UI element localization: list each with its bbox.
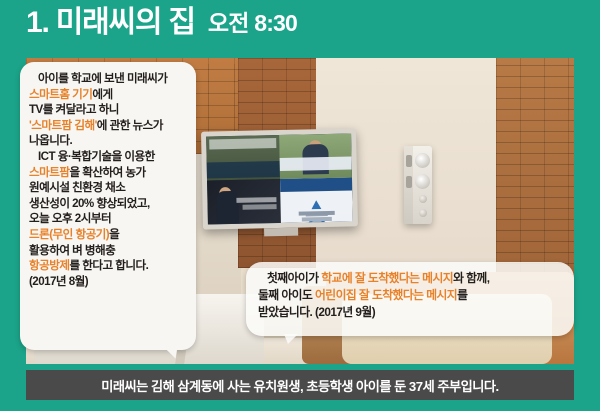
tv-quadrant-news-field (206, 135, 279, 181)
speaker-driver-panel (413, 146, 432, 224)
bubble-line: 활용하여 벼 병해충 (29, 243, 187, 259)
wall-speaker (404, 146, 432, 224)
left-bubble-text: 아이를 학교에 보낸 미래씨가스마트홈 기기에게TV를 켜달라고 하니'스마트팜… (29, 71, 187, 289)
tv-quadrant-school-notice (280, 177, 353, 223)
highlight-term: 드론(무인 항공기) (29, 228, 109, 241)
right-speech-bubble: 첫째아이가 학교에 잘 도착했다는 메시지와 함께,둘째 아이도 어린이집 잘 … (246, 262, 574, 336)
bubble-line: ICT 융·복합기술을 이용한 (29, 149, 187, 165)
bubble-line: 원예시설 친환경 채소 (29, 180, 187, 196)
body-text: 에 관한 뉴스가 (97, 119, 163, 132)
tv-quadrant-interview-studio (207, 179, 280, 225)
body-text: 원예시설 친환경 채소 (29, 181, 125, 194)
speaker-side-panel (404, 146, 413, 224)
bubble-line: 첫째아이가 학교에 잘 도착했다는 메시지와 함께, (258, 270, 562, 287)
body-text: (2017년 8월) (29, 275, 88, 288)
highlight-term: 학교에 잘 도착했다는 메시지 (321, 271, 453, 285)
body-text: 을 확산하여 농가 (69, 166, 145, 179)
bubble-line: 아이를 학교에 보낸 미래씨가 (29, 71, 187, 87)
header-bar: 1. 미래씨의 집 오전 8:30 (0, 0, 600, 58)
body-text: 를 한다고 합니다. (69, 259, 148, 272)
highlight-term: '스마트팜 김해' (29, 119, 97, 132)
bottom-caption-bar: 미래씨는 김해 삼계동에 사는 유치원생, 초등학생 아이를 둔 37세 주부입… (26, 370, 574, 400)
header-time: 오전 8:30 (208, 8, 297, 40)
body-text: 을 (109, 228, 119, 241)
bubble-line: 항공방제를 한다고 합니다. (29, 258, 187, 274)
body-text: 에게 (92, 88, 112, 101)
bubble-line: 스마트팜을 확산하여 농가 (29, 165, 187, 181)
header-inner: 1. 미래씨의 집 오전 8:30 (26, 6, 297, 40)
highlight-term: 항공방제 (29, 259, 69, 272)
body-text: 둘째 아이도 (258, 288, 315, 302)
highlight-term: 스마트팜 (29, 166, 69, 179)
bubble-line: 받았습니다. (2017년 9월) (258, 304, 562, 321)
left-speech-bubble: 아이를 학교에 보낸 미래씨가스마트홈 기기에게TV를 켜달라고 하니'스마트팜… (20, 62, 196, 350)
bubble-line: 나옵니다. (29, 133, 187, 149)
bubble-line: TV를 켜달라고 하니 (29, 102, 187, 118)
body-text: 첫째아이가 (267, 271, 321, 285)
body-text: 아이를 학교에 보낸 미래씨가 (38, 72, 167, 85)
highlight-term: 스마트홈 기기 (29, 88, 92, 101)
body-text: 나옵니다. (29, 134, 72, 147)
bubble-line: 오늘 오후 2시부터 (29, 211, 187, 227)
body-text: 받았습니다. (2017년 9월) (258, 305, 375, 319)
tv-quadrant-interview-outdoor (279, 133, 352, 179)
tv-screen (206, 133, 353, 224)
bubble-line: 드론(무인 항공기)을 (29, 227, 187, 243)
body-text: 와 함께, (453, 271, 489, 285)
body-text: 생산성이 20% 향상되었고, (29, 197, 150, 210)
bubble-line: '스마트팜 김해'에 관한 뉴스가 (29, 118, 187, 134)
body-text: 활용하여 벼 병해충 (29, 244, 115, 257)
tv-stand (264, 228, 298, 237)
infographic-slide: 1. 미래씨의 집 오전 8:30 (0, 0, 600, 411)
bubble-line: 스마트홈 기기에게 (29, 87, 187, 103)
highlight-term: 어린이집 잘 도착했다는 메시지 (315, 288, 457, 302)
body-text: 오늘 오후 2시부터 (29, 212, 111, 225)
page-title: 1. 미래씨의 집 (26, 6, 195, 40)
body-text: TV를 켜달라고 하니 (29, 103, 119, 116)
caption-text: 미래씨는 김해 삼계동에 사는 유치원생, 초등학생 아이를 둔 37세 주부입… (101, 376, 498, 395)
bubble-line: 둘째 아이도 어린이집 잘 도착했다는 메시지를 (258, 287, 562, 304)
wall-tv (201, 128, 358, 229)
body-text: ICT 융·복합기술을 이용한 (38, 150, 155, 163)
bubble-line: (2017년 8월) (29, 274, 187, 290)
bubble-line: 생산성이 20% 향상되었고, (29, 196, 187, 212)
right-bubble-text: 첫째아이가 학교에 잘 도착했다는 메시지와 함께,둘째 아이도 어린이집 잘 … (258, 270, 562, 321)
body-text: 를 (457, 288, 467, 302)
